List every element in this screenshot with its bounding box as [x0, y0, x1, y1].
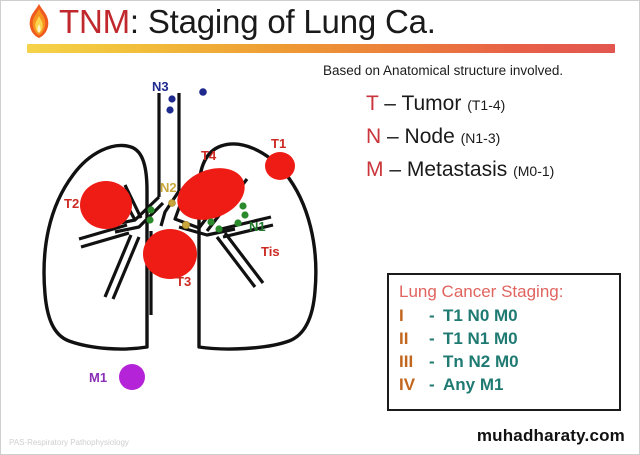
title-accent: TNM: [59, 3, 130, 40]
lung-diagram-svg: [39, 79, 339, 359]
staging-numeral-iv: IV: [399, 373, 429, 396]
tumor-t3-mass: [143, 229, 197, 279]
title-row: TNM: Staging of Lung Ca.: [1, 1, 640, 43]
flame-icon: [25, 3, 53, 41]
legend-paren-tumor: (T1-4): [467, 97, 505, 113]
tnm-legend: T – Tumor (T1-4) N – Node (N1-3) M – Met…: [366, 91, 636, 190]
node-n3-dot-1: [168, 95, 175, 102]
legend-item-metastasis: M – Metastasis (M0-1): [366, 157, 636, 184]
slide-canvas: TNM: Staging of Lung Ca. Based on Anatom…: [0, 0, 640, 455]
legend-key-m: M: [366, 158, 384, 181]
node-n1-dot-3: [239, 202, 246, 209]
staging-row-ii: II - T1 N1 M0: [399, 327, 619, 350]
legend-key-t: T: [366, 92, 378, 115]
staging-value-iv: Any M1: [443, 373, 503, 396]
diagram-label-n2: N2: [160, 180, 177, 195]
tumor-t2-mass: [80, 181, 132, 229]
legend-dash-m: –: [389, 158, 401, 181]
staging-numeral-i: I: [399, 304, 429, 327]
staging-dash-iii: -: [429, 350, 443, 373]
legend-item-node: N – Node (N1-3): [366, 124, 636, 151]
staging-row-i: I - T1 N0 M0: [399, 304, 619, 327]
legend-item-tumor: T – Tumor (T1-4): [366, 91, 636, 118]
staging-dash-iv: -: [429, 373, 443, 396]
diagram-label-m1: M1: [89, 370, 107, 385]
node-n1-dot-6: [207, 218, 214, 225]
node-n3-dot-2: [166, 106, 173, 113]
staging-numeral-ii: II: [399, 327, 429, 350]
node-n1-dot-5: [215, 225, 222, 232]
diagram-label-tis: Tis: [261, 244, 280, 259]
lung-outline-right: [44, 145, 147, 349]
diagram-label-t2: T2: [64, 196, 79, 211]
tumor-t1-mass: [265, 152, 295, 180]
node-n1-dot-1: [147, 206, 154, 213]
node-n1-dot-7: [234, 219, 241, 226]
node-n3-dot-3: [199, 88, 207, 96]
staging-value-iii: Tn N2 M0: [443, 350, 519, 373]
diagram-label-t3: T3: [176, 274, 191, 289]
node-n2-dot-1: [169, 200, 176, 207]
staging-dash-ii: -: [429, 327, 443, 350]
title-rest: : Staging of Lung Ca.: [130, 3, 436, 40]
legend-paren-metastasis: (M0-1): [513, 163, 554, 179]
diagram-label-t1: T1: [271, 136, 286, 151]
page-title: TNM: Staging of Lung Ca.: [59, 1, 436, 43]
staging-value-ii: T1 N1 M0: [443, 327, 518, 350]
node-n1-dot-4: [241, 211, 248, 218]
staging-value-i: T1 N0 M0: [443, 304, 518, 327]
staging-box: Lung Cancer Staging: I - T1 N0 M0 II - T…: [387, 273, 621, 411]
lung-anatomy-diagram: N3 T1 T4 N2 T2 N1 Tis T3: [39, 79, 339, 359]
legend-dash-t: –: [384, 92, 396, 115]
metastasis-marker-group: M1: [89, 364, 169, 398]
diagram-label-n3: N3: [152, 79, 169, 94]
staging-box-title: Lung Cancer Staging:: [399, 282, 619, 302]
diagram-label-n1: N1: [249, 219, 266, 234]
legend-paren-node: (N1-3): [461, 130, 501, 146]
diagram-label-t4: T4: [201, 148, 216, 163]
staging-numeral-iii: III: [399, 350, 429, 373]
legend-key-n: N: [366, 125, 381, 148]
subtitle-text: Based on Anatomical structure involved.: [323, 63, 563, 78]
node-n1-dot-2: [146, 216, 153, 223]
footer-course-label: PAS-Respiratory Pathophysiology: [9, 438, 129, 447]
legend-dash-n: –: [387, 125, 399, 148]
legend-term-node: Node: [405, 125, 455, 148]
staging-dash-i: -: [429, 304, 443, 327]
footer-watermark: muhadharaty.com: [477, 426, 625, 446]
staging-row-iii: III - Tn N2 M0: [399, 350, 619, 373]
legend-term-metastasis: Metastasis: [407, 158, 507, 181]
node-n2-dot-2: [182, 221, 189, 228]
legend-term-tumor: Tumor: [401, 92, 461, 115]
staging-row-iv: IV - Any M1: [399, 373, 619, 396]
metastasis-m1-dot: [119, 364, 145, 390]
title-divider-bar: [27, 44, 615, 53]
